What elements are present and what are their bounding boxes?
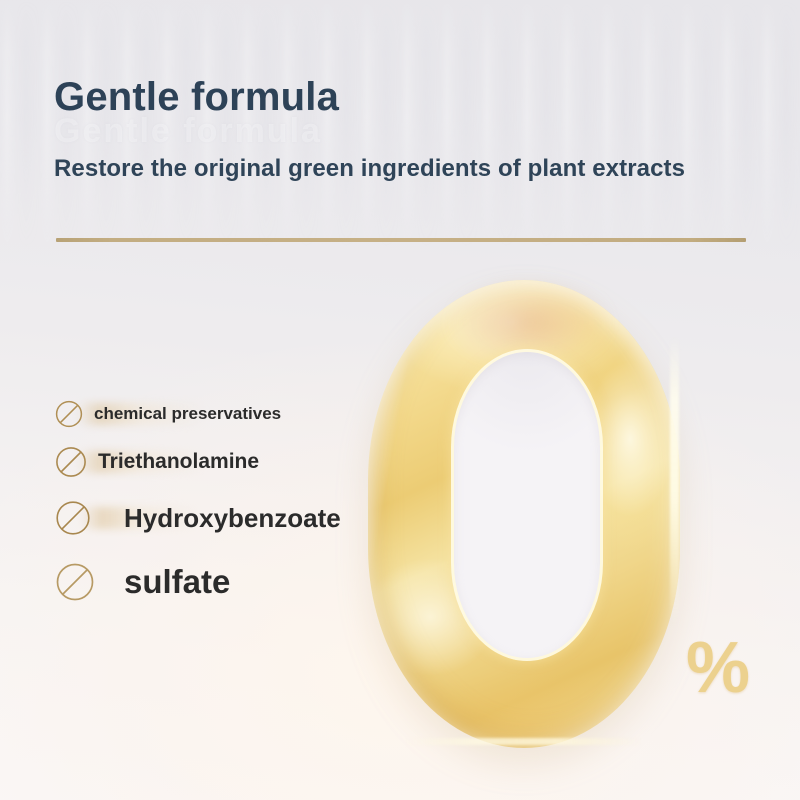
zero-bottom-highlight bbox=[405, 738, 642, 745]
list-item: Triethanolamine bbox=[54, 436, 384, 488]
list-item-label: sulfate bbox=[124, 563, 230, 601]
page-subtitle: Restore the original green ingredients o… bbox=[54, 155, 685, 183]
list-item: sulfate bbox=[54, 548, 384, 616]
divider-rule bbox=[56, 238, 746, 242]
page-title: Gentle formula bbox=[54, 76, 339, 118]
free-from-list: chemical preservatives Triethanolamine H… bbox=[54, 392, 384, 616]
list-item: Hydroxybenzoate bbox=[54, 488, 384, 548]
zero-right-highlight bbox=[670, 336, 679, 626]
prohibition-icon bbox=[54, 561, 96, 603]
list-item-label: Hydroxybenzoate bbox=[124, 503, 341, 534]
promo-poster: Gentle formula Gentle formula Restore th… bbox=[0, 0, 800, 800]
zero-body bbox=[368, 280, 680, 748]
percent-symbol: % bbox=[686, 632, 749, 704]
prohibition-icon bbox=[54, 445, 88, 479]
list-item-label: chemical preservatives bbox=[94, 404, 281, 424]
prohibition-icon bbox=[54, 499, 92, 537]
zero-counter bbox=[454, 352, 600, 658]
list-item-label: Triethanolamine bbox=[98, 450, 259, 474]
hero-numeral-zero bbox=[368, 280, 680, 748]
zero-amber-blush bbox=[455, 285, 605, 360]
list-item: chemical preservatives bbox=[54, 392, 384, 436]
prohibition-icon bbox=[54, 399, 84, 429]
